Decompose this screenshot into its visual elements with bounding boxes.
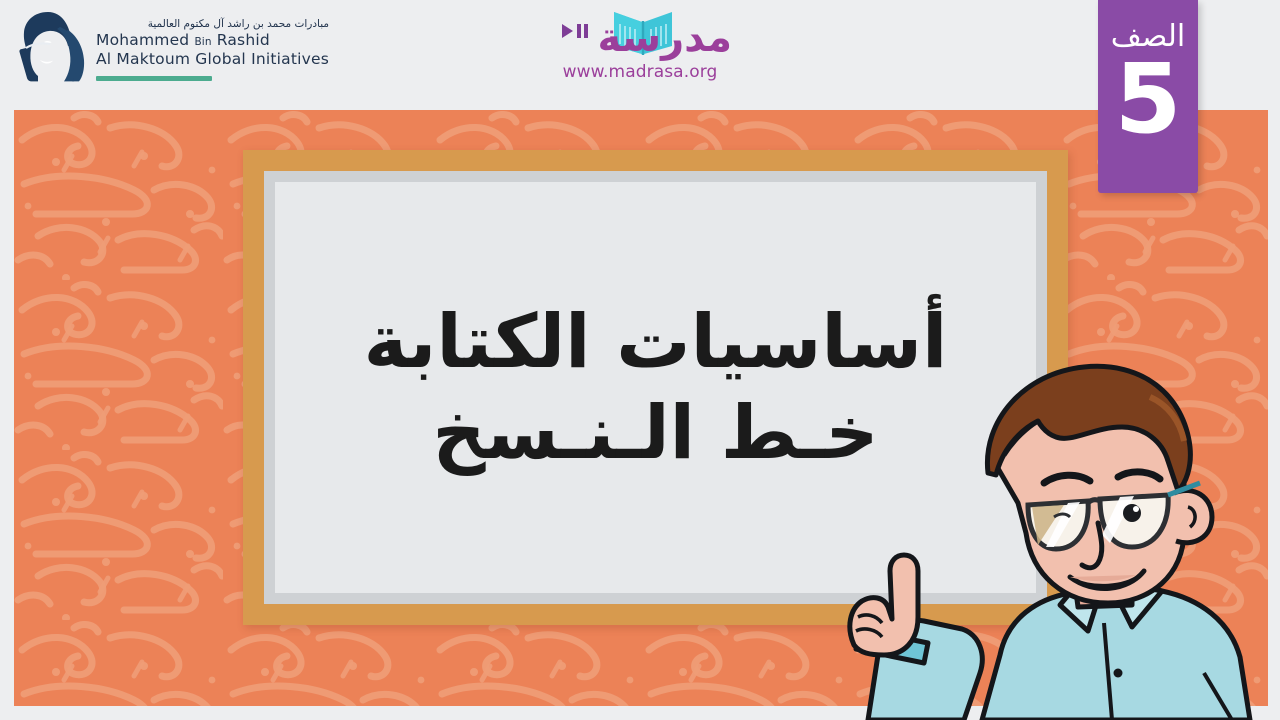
mbr-name-mohammed: Mohammed xyxy=(96,31,189,49)
mbr-accent-rule xyxy=(96,76,212,81)
mbr-portrait-icon xyxy=(14,8,86,92)
madrasa-logomark: مدرسة xyxy=(540,6,740,68)
lesson-title-line-1: أساسيات الكتابة xyxy=(364,301,948,384)
bottom-margin-strip xyxy=(0,706,1280,720)
mbr-global-initiatives-logo: مبادرات محمد بن راشد آل مكتوم العالمية M… xyxy=(14,8,329,92)
mbr-name-rashid: Rashid xyxy=(217,31,270,49)
play-pause-icon xyxy=(560,22,594,40)
lesson-slide: أساسيات الكتابة خـط الـنـسخ xyxy=(14,110,1268,706)
mbr-arabic-name: مبادرات محمد بن راشد آل مكتوم العالمية xyxy=(96,18,329,31)
grade-number: 5 xyxy=(1115,54,1182,145)
frame-inner-panel: أساسيات الكتابة خـط الـنـسخ xyxy=(275,182,1036,593)
madrasa-url-text[interactable]: www.madrasa.org xyxy=(540,62,740,82)
mbr-english-name-line1: Mohammed Bin Rashid xyxy=(96,31,329,50)
frame-mat: أساسيات الكتابة خـط الـنـسخ xyxy=(264,171,1047,604)
mbr-name-bin: Bin xyxy=(195,36,212,48)
lesson-title-line-2: خـط الـنـسخ xyxy=(432,392,878,475)
mbr-logo-text: مبادرات محمد بن راشد آل مكتوم العالمية M… xyxy=(96,8,329,81)
madrasa-wordmark: مدرسة xyxy=(598,18,733,58)
title-frame: أساسيات الكتابة خـط الـنـسخ xyxy=(243,150,1068,625)
mbr-english-name-line2: Al Maktoum Global Initiatives xyxy=(96,50,329,69)
slide-stage: مبادرات محمد بن راشد آل مكتوم العالمية M… xyxy=(0,0,1280,720)
grade-badge: الصف 5 xyxy=(1098,0,1198,193)
header-band: مبادرات محمد بن راشد آل مكتوم العالمية M… xyxy=(0,0,1280,110)
madrasa-logo[interactable]: مدرسة www.madrasa.org xyxy=(540,6,740,98)
